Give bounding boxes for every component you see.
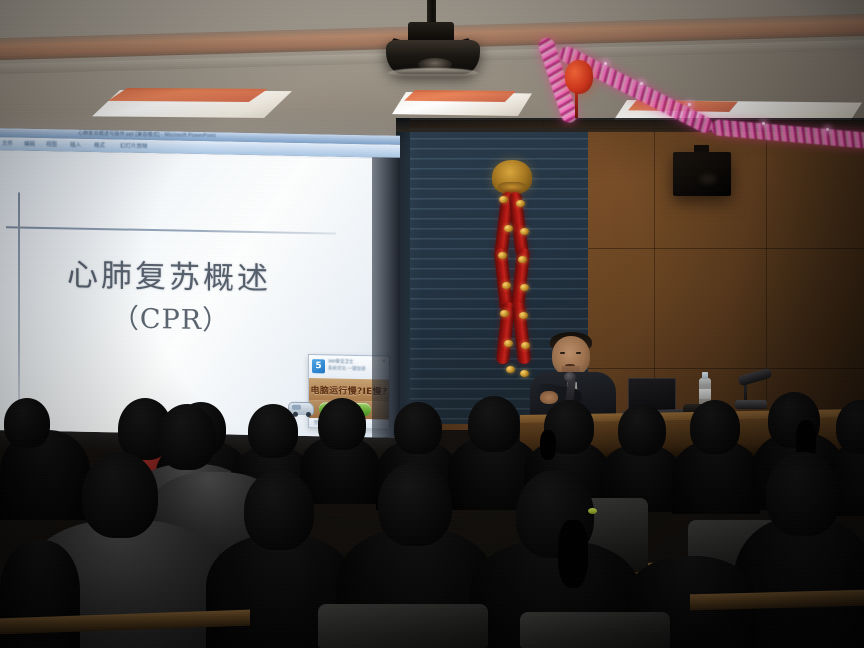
audience-head	[82, 452, 158, 538]
firecracker-bead	[498, 252, 507, 259]
menu-item-edit[interactable]: 编辑	[24, 140, 35, 148]
popup-ad-header-line1: 360安全卫士	[328, 358, 354, 364]
projection-screen: 心肺复苏概述与操作.ppt [兼容模式] - Microsoft PowerPo…	[0, 128, 400, 438]
slide-decoration-horizontal-line	[6, 226, 336, 234]
ceiling-light-inner	[108, 88, 268, 102]
audience-head	[690, 400, 740, 454]
tinsel-sparkle	[640, 82, 643, 85]
slide-stage: 心肺复苏概述 （CPR） 急救培训 5 360安全卫士 系统优化·一键加速 ✕ …	[0, 150, 400, 438]
gold-knot-ornament-icon	[492, 160, 532, 194]
projector-rim-highlight	[388, 68, 478, 78]
hair-scrunchie	[588, 508, 597, 514]
tinsel-sparkle	[762, 122, 765, 125]
chair-back	[318, 604, 488, 648]
audience-head	[394, 402, 442, 454]
menu-item-view[interactable]: 视图	[46, 140, 57, 148]
tinsel-sparkle	[604, 62, 607, 65]
firecracker-bead	[516, 200, 525, 207]
ceiling-light-inner	[404, 90, 516, 102]
lecture-hall-scene: 心肺复苏概述与操作.ppt [兼容模式] - Microsoft PowerPo…	[0, 0, 864, 648]
firecracker-bead	[499, 196, 508, 203]
audience-head	[766, 452, 840, 536]
audience-head	[378, 462, 452, 546]
audience-head	[248, 404, 298, 458]
menu-item-insert[interactable]: 插入	[70, 140, 81, 148]
firecracker-bead	[520, 370, 529, 377]
audience-head	[158, 404, 216, 470]
audience-head	[244, 470, 314, 550]
tinsel-sparkle	[826, 128, 829, 131]
popup-ad-header-line2: 系统优化·一键加速	[328, 365, 366, 372]
menu-item-slideshow[interactable]: 幻灯片放映	[120, 141, 148, 150]
chair-back	[520, 612, 670, 648]
microphone-base	[735, 400, 767, 409]
firecracker-bead	[518, 256, 527, 263]
audience-head	[618, 404, 666, 456]
slide-title: 心肺复苏概述	[0, 248, 342, 300]
presenter-eye	[560, 352, 565, 354]
firecracker-bead	[520, 284, 529, 291]
audience-ponytail	[540, 430, 556, 460]
audience-head	[4, 398, 50, 448]
audience-head	[468, 396, 520, 452]
tinsel-sparkle	[688, 103, 691, 106]
red-lantern-icon	[565, 60, 593, 94]
firecracker-bead	[504, 340, 513, 347]
slide-canvas: 心肺复苏概述 （CPR） 急救培训 5 360安全卫士 系统优化·一键加速 ✕ …	[0, 152, 372, 437]
audience-ponytail	[558, 520, 588, 588]
speaker-glint	[700, 175, 716, 183]
firecracker-bead	[500, 310, 509, 317]
presenter-hand	[540, 391, 558, 404]
menu-item-format[interactable]: 格式	[94, 141, 105, 149]
menu-item-file[interactable]: 文件	[2, 139, 13, 147]
presenter-eye	[576, 352, 581, 354]
powerpoint-title-text: 心肺复苏概述与操作.ppt [兼容模式] - Microsoft PowerPo…	[78, 130, 216, 140]
screen-edge-shadow	[372, 157, 400, 438]
bottle-label	[699, 389, 711, 399]
firecracker-bead	[519, 312, 528, 319]
slide-subtitle: （CPR）	[0, 294, 346, 340]
firecracker-bead	[521, 342, 530, 349]
firecracker-bead	[520, 228, 529, 235]
handheld-microphone-head-icon	[564, 372, 576, 382]
firecracker-bead	[502, 282, 511, 289]
lantern-tassel	[575, 92, 578, 118]
firecracker-bead	[504, 225, 513, 232]
audience-head	[318, 398, 366, 450]
wall-speaker-icon	[673, 152, 731, 196]
shield-360-logo-icon: 5	[312, 359, 325, 373]
firecracker-bead	[506, 366, 515, 373]
